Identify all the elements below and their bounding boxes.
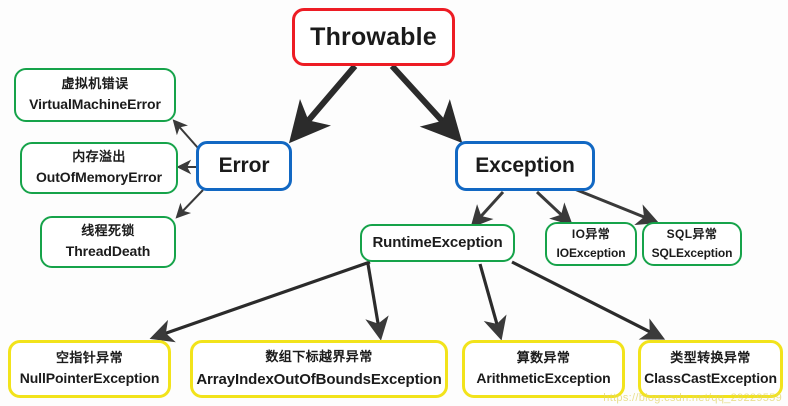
edge-runtimeexception-arithmeticexception <box>480 264 500 335</box>
node-sqlexception[interactable]: SQL异常 SQLException <box>642 222 742 266</box>
node-ioexception-en: IOException <box>557 246 626 261</box>
node-arrayindexoutofboundsexception-en: ArrayIndexOutOfBoundsException <box>196 370 441 389</box>
edge-runtimeexception-nullpointerexception <box>155 262 370 337</box>
node-arrayindexoutofboundsexception[interactable]: 数组下标越界异常 ArrayIndexOutOfBoundsException <box>190 340 448 398</box>
node-nullpointerexception-cn: 空指针异常 <box>56 350 123 367</box>
node-sqlexception-en: SQLException <box>652 246 733 261</box>
node-classcastexception-cn: 类型转换异常 <box>670 350 750 367</box>
node-nullpointerexception[interactable]: 空指针异常 NullPointerException <box>8 340 171 398</box>
node-exception[interactable]: Exception <box>455 141 595 191</box>
node-arithmeticexception[interactable]: 算数异常 ArithmeticException <box>462 340 625 398</box>
node-throwable[interactable]: Throwable <box>292 8 455 66</box>
node-ioexception-cn: IO异常 <box>572 227 610 242</box>
node-arithmeticexception-en: ArithmeticException <box>476 370 610 388</box>
node-outofmemoryerror-en: OutOfMemoryError <box>36 169 162 187</box>
node-threaddeath[interactable]: 线程死锁 ThreadDeath <box>40 216 176 268</box>
node-nullpointerexception-en: NullPointerException <box>20 370 160 388</box>
edge-throwable-error <box>296 66 355 135</box>
diagram-canvas: Throwable Error Exception 虚拟机错误 VirtualM… <box>0 0 788 406</box>
edge-exception-ioexception <box>537 192 569 222</box>
watermark: https://blog.csdn.net/qq_29229559 <box>603 392 782 404</box>
node-virtualmachineerror-en: VirtualMachineError <box>29 96 161 114</box>
edge-exception-sqlexception <box>572 188 654 221</box>
node-arrayindexoutofboundsexception-cn: 数组下标越界异常 <box>265 349 372 366</box>
node-error-label: Error <box>219 153 270 180</box>
edge-throwable-exception <box>392 66 455 135</box>
node-ioexception[interactable]: IO异常 IOException <box>545 222 637 266</box>
node-virtualmachineerror[interactable]: 虚拟机错误 VirtualMachineError <box>14 68 176 122</box>
node-threaddeath-cn: 线程死锁 <box>81 223 135 240</box>
node-outofmemoryerror-cn: 内存溢出 <box>72 149 126 166</box>
edge-error-threaddeath <box>178 190 203 216</box>
edge-runtimeexception-arrayindexoutofboundsexception <box>368 264 380 335</box>
node-exception-label: Exception <box>475 153 574 180</box>
node-classcastexception-en: ClassCastException <box>644 370 777 388</box>
edge-exception-runtimeexception <box>474 192 503 224</box>
node-outofmemoryerror[interactable]: 内存溢出 OutOfMemoryError <box>20 142 178 194</box>
node-runtimeexception-label: RuntimeException <box>372 233 502 252</box>
edge-error-virtualmachineerror <box>175 122 198 148</box>
node-threaddeath-en: ThreadDeath <box>66 243 150 261</box>
node-throwable-label: Throwable <box>310 21 437 53</box>
edge-runtimeexception-classcastexception <box>512 262 660 337</box>
node-error[interactable]: Error <box>196 141 292 191</box>
node-classcastexception[interactable]: 类型转换异常 ClassCastException <box>638 340 783 398</box>
node-arithmeticexception-cn: 算数异常 <box>517 350 571 367</box>
node-virtualmachineerror-cn: 虚拟机错误 <box>61 76 128 93</box>
node-runtimeexception[interactable]: RuntimeException <box>360 224 515 262</box>
node-sqlexception-cn: SQL异常 <box>667 227 718 242</box>
